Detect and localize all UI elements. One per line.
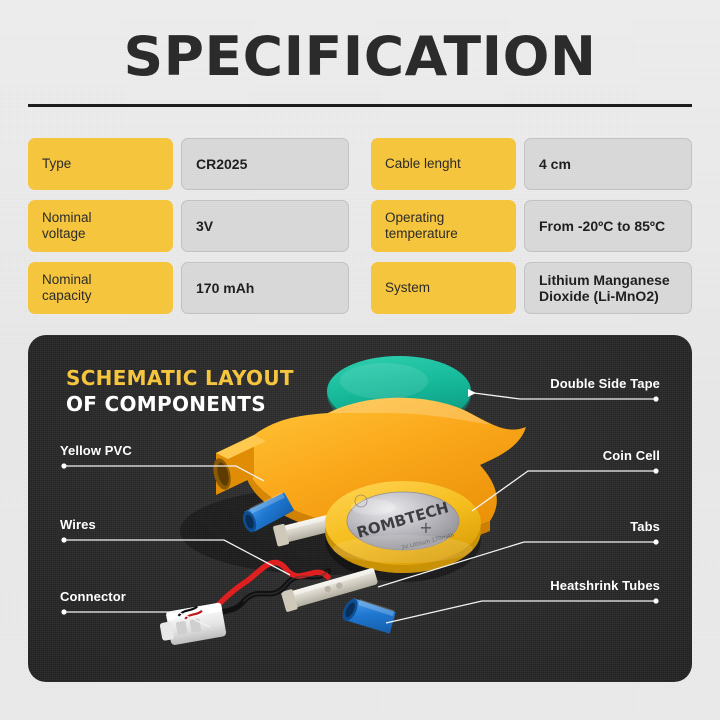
title-divider [28,104,692,107]
spec-row: Type CR2025 [28,138,349,190]
callout-label-connector: Connector [60,589,126,604]
coin-cell-polarity-text: + [419,518,432,537]
spec-row: Cable lenght 4 cm [371,138,692,190]
callout-label-double-side-tape: Double Side Tape [550,376,660,391]
spec-key: Nominal capacity [28,262,173,314]
spec-value: CR2025 [181,138,349,190]
spec-key: System [371,262,516,314]
coin-cell-part: ROMBTECH + 3V Lithium 170mAh [325,481,481,582]
connector-part [158,602,227,647]
callout-label-tabs: Tabs [630,519,660,534]
spec-row: Nominal capacity 170 mAh [28,262,349,314]
spec-key: Type [28,138,173,190]
callout-label-heatshrink-tubes: Heatshrink Tubes [550,578,660,593]
callout-label-coin-cell: Coin Cell [603,448,660,463]
schematic-panel: SCHEMATIC LAYOUT OF COMPONENTS [28,335,692,682]
callout-label-yellow-pvc: Yellow PVC [60,443,132,458]
spec-value: 4 cm [524,138,692,190]
callout-label-wires: Wires [60,517,96,532]
spec-key: Operating temperature [371,200,516,252]
spec-row: Operating temperature From -20ºC to 85ºC [371,200,692,252]
spec-value: Lithium Manganese Dioxide (Li-MnO2) [524,262,692,314]
heatshrink-tube-lower [339,590,399,641]
spec-row: Nominal voltage 3V [28,200,349,252]
spec-key: Cable lenght [371,138,516,190]
spec-value: From -20ºC to 85ºC [524,200,692,252]
spec-row: System Lithium Manganese Dioxide (Li-MnO… [371,262,692,314]
spec-key: Nominal voltage [28,200,173,252]
specification-table: Type CR2025 Cable lenght 4 cm Nominal vo… [28,138,692,314]
spec-value: 3V [181,200,349,252]
page-title: SPECIFICATION [0,28,720,86]
spec-value: 170 mAh [181,262,349,314]
